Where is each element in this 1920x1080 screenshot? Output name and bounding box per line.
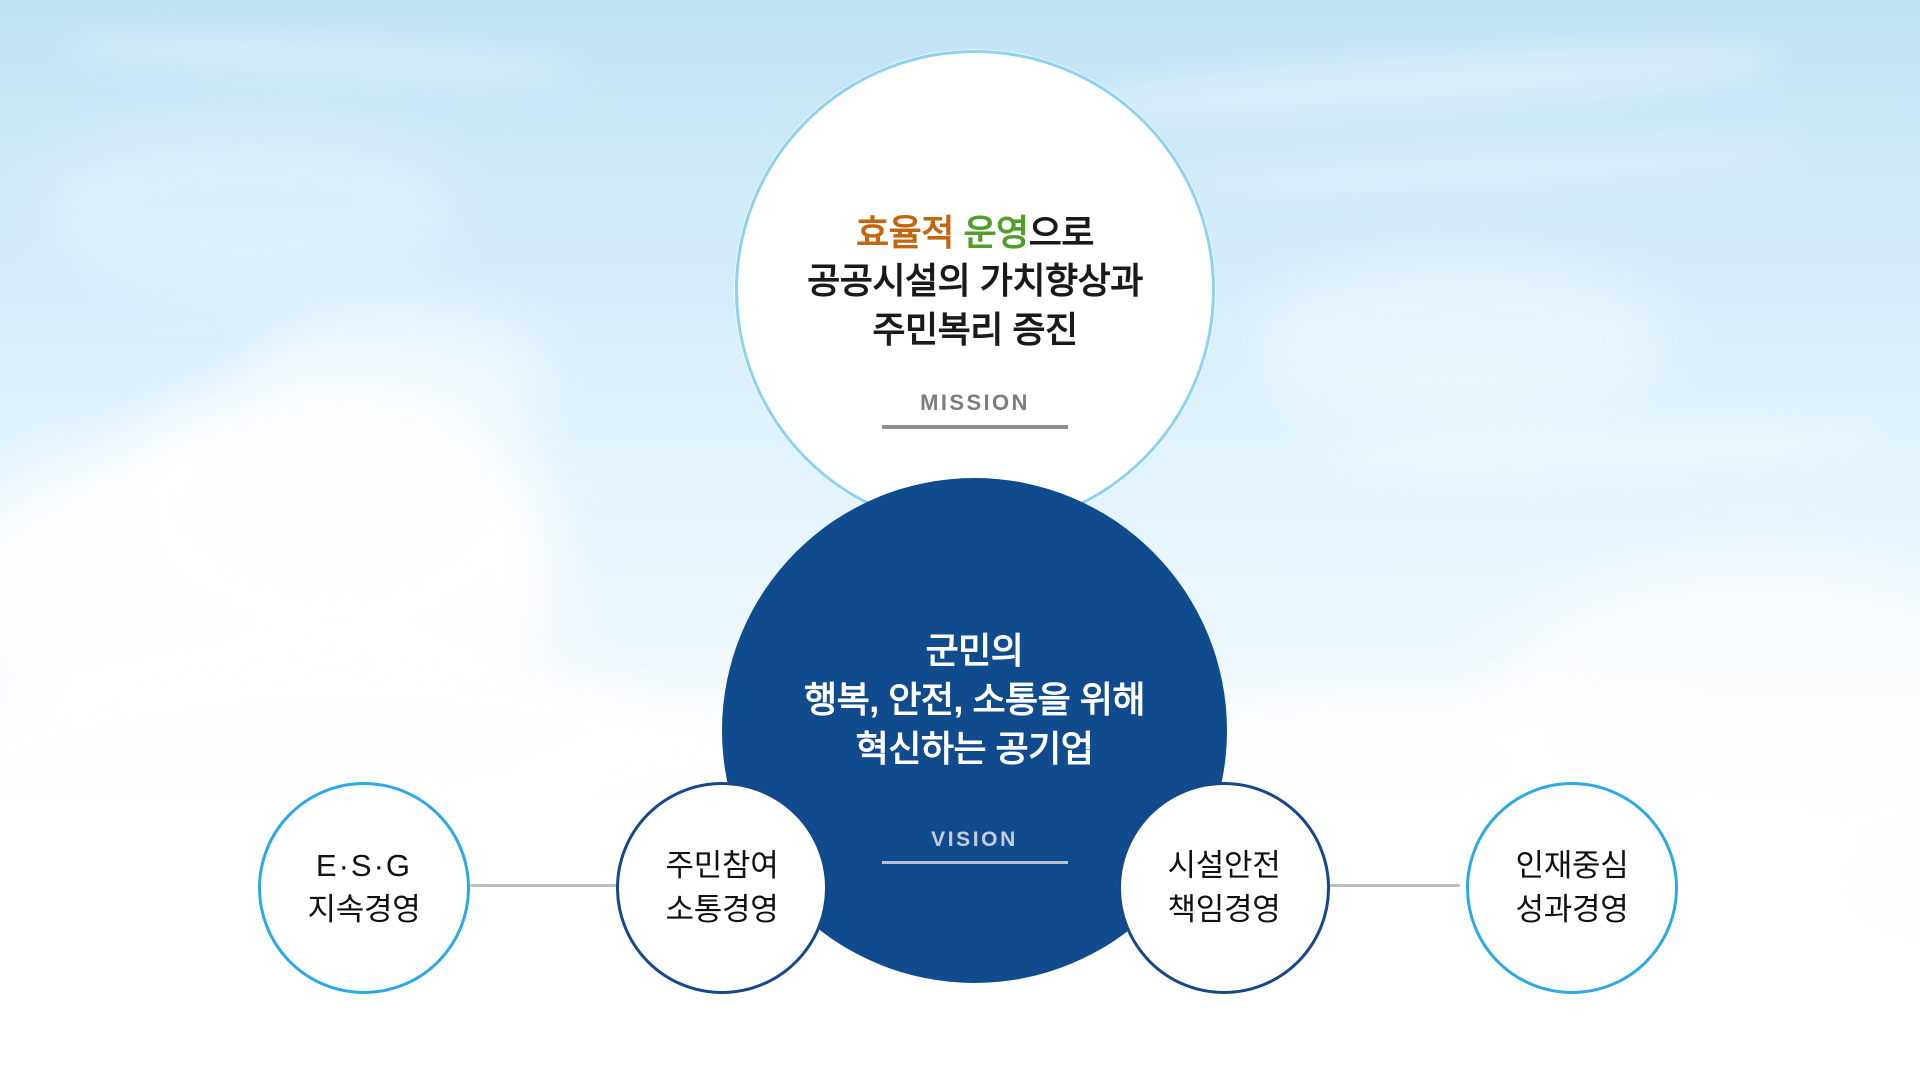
mission-vision-infographic: 효율적 운영으로 공공시설의 가치향상과 주민복리 증진 MISSION 군민의… [0, 0, 1920, 1080]
mission-line-3: 주민복리 증진 [807, 306, 1143, 354]
mission-label-underline [882, 425, 1068, 429]
mission-keyword-operation: 운영 [963, 212, 1028, 253]
strategy-circle-safety[interactable]: 시설안전 책임경영 [1118, 782, 1330, 994]
mission-label-group: MISSION [882, 390, 1068, 429]
vision-line-1: 군민의 [804, 627, 1145, 676]
vision-label-underline [882, 861, 1068, 864]
strategy-line-1: 주민참여 [666, 844, 779, 888]
strategy-line-1: 시설안전 [1168, 844, 1281, 888]
strategy-text: 주민참여 소통경영 [666, 844, 779, 932]
strategy-line-2: 성과경영 [1516, 888, 1629, 932]
mission-line-1-suffix: 으로 [1029, 212, 1094, 253]
mission-keyword-efficiency: 효율적 [856, 212, 954, 253]
strategy-line-1: E·S·G [308, 844, 421, 888]
vision-statement: 군민의 행복, 안전, 소통을 위해 혁신하는 공기업 [804, 597, 1145, 774]
strategy-line-1: 인재중심 [1516, 844, 1629, 888]
vision-label: VISION [931, 828, 1018, 852]
diagram-layer: 효율적 운영으로 공공시설의 가치향상과 주민복리 증진 MISSION 군민의… [0, 0, 1920, 1080]
strategy-line-2: 책임경영 [1168, 888, 1281, 932]
strategy-circle-talent[interactable]: 인재중심 성과경영 [1466, 782, 1678, 994]
strategy-circle-esg[interactable]: E·S·G 지속경영 [258, 782, 470, 994]
strategy-text: 시설안전 책임경영 [1168, 844, 1281, 932]
strategy-circle-participation[interactable]: 주민참여 소통경영 [616, 782, 828, 994]
strategy-line-2: 지속경영 [308, 888, 421, 932]
vision-line-2: 행복, 안전, 소통을 위해 [804, 676, 1145, 725]
connector-line-right [1310, 884, 1460, 887]
mission-line-2: 공공시설의 가치향상과 [807, 257, 1143, 305]
strategy-line-2: 소통경영 [666, 888, 779, 932]
mission-circle[interactable]: 효율적 운영으로 공공시설의 가치향상과 주민복리 증진 MISSION [735, 50, 1215, 530]
mission-line-1: 효율적 운영으로 [807, 209, 1143, 257]
mission-statement: 효율적 운영으로 공공시설의 가치향상과 주민복리 증진 [807, 151, 1143, 354]
strategy-text: 인재중심 성과경영 [1516, 844, 1629, 932]
connector-line-left [470, 884, 620, 887]
mission-label: MISSION [920, 390, 1030, 416]
vision-line-3: 혁신하는 공기업 [804, 725, 1145, 774]
vision-label-group: VISION [882, 828, 1068, 864]
strategy-text: E·S·G 지속경영 [308, 844, 421, 932]
